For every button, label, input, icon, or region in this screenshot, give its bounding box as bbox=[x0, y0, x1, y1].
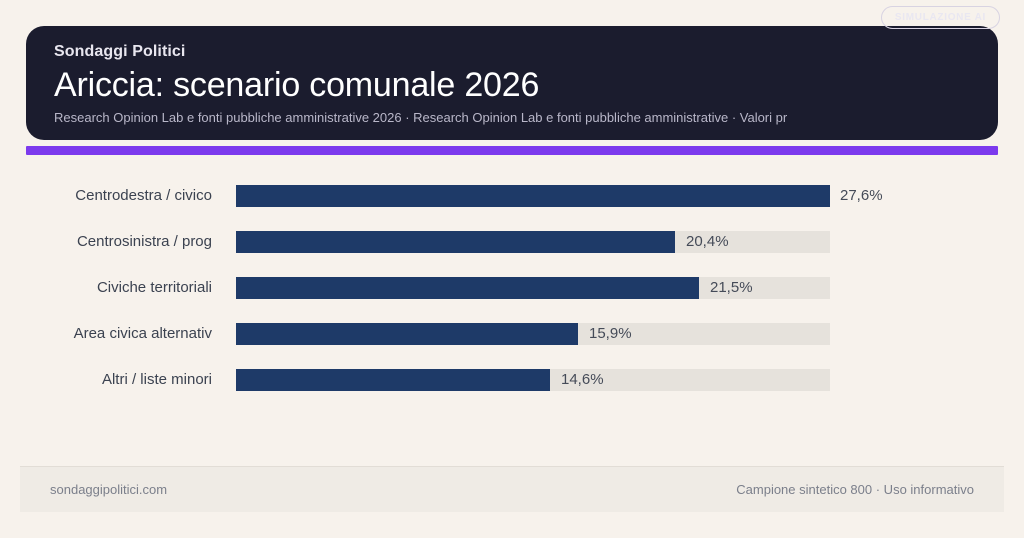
bar-fill bbox=[236, 323, 578, 345]
bar-label: Civiche territoriali bbox=[0, 265, 212, 311]
poster-root: Sondaggi Politici Ariccia: scenario comu… bbox=[0, 0, 1024, 538]
page-title: Ariccia: scenario comunale 2026 bbox=[54, 64, 972, 106]
footer-note: Campione sintetico 800 · Uso informativo bbox=[736, 481, 974, 499]
header-card: Sondaggi Politici Ariccia: scenario comu… bbox=[26, 26, 998, 140]
bar-track bbox=[236, 231, 830, 253]
bar-value: 20,4% bbox=[686, 231, 729, 253]
bar-label: Centrosinistra / prog bbox=[0, 219, 212, 265]
bar-fill bbox=[236, 231, 675, 253]
bar-fill bbox=[236, 185, 830, 207]
header-subtitle: Research Opinion Lab e fonti pubbliche a… bbox=[54, 109, 994, 127]
bar-fill bbox=[236, 369, 550, 391]
bar-value: 14,6% bbox=[561, 369, 604, 391]
bar-label: Centrodestra / civico bbox=[0, 173, 212, 219]
chart-row: Centrosinistra / prog 20,4% bbox=[0, 219, 1024, 265]
footer-site: sondaggipolitici.com bbox=[50, 481, 167, 499]
bar-track bbox=[236, 323, 830, 345]
bar-label: Area civica alternativ bbox=[0, 311, 212, 357]
bar-value: 27,6% bbox=[840, 185, 883, 207]
accent-divider bbox=[26, 146, 998, 155]
chart-row: Altri / liste minori 14,6% bbox=[0, 357, 1024, 403]
chart-row: Centrodestra / civico 27,6% bbox=[0, 173, 1024, 219]
header-kicker: Sondaggi Politici bbox=[54, 42, 972, 62]
bar-value: 21,5% bbox=[710, 277, 753, 299]
status-badge: SIMULAZIONE AI bbox=[881, 6, 1000, 29]
chart-row: Civiche territoriali 21,5% bbox=[0, 265, 1024, 311]
bar-fill bbox=[236, 277, 699, 299]
footer: sondaggipolitici.com Campione sintetico … bbox=[20, 466, 1004, 512]
bar-value: 15,9% bbox=[589, 323, 632, 345]
chart-row: Area civica alternativ 15,9% bbox=[0, 311, 1024, 357]
bar-label: Altri / liste minori bbox=[0, 357, 212, 403]
bar-track bbox=[236, 185, 830, 207]
bar-track bbox=[236, 369, 830, 391]
bar-chart: Centrodestra / civico 27,6% Centrosinist… bbox=[0, 173, 1024, 403]
